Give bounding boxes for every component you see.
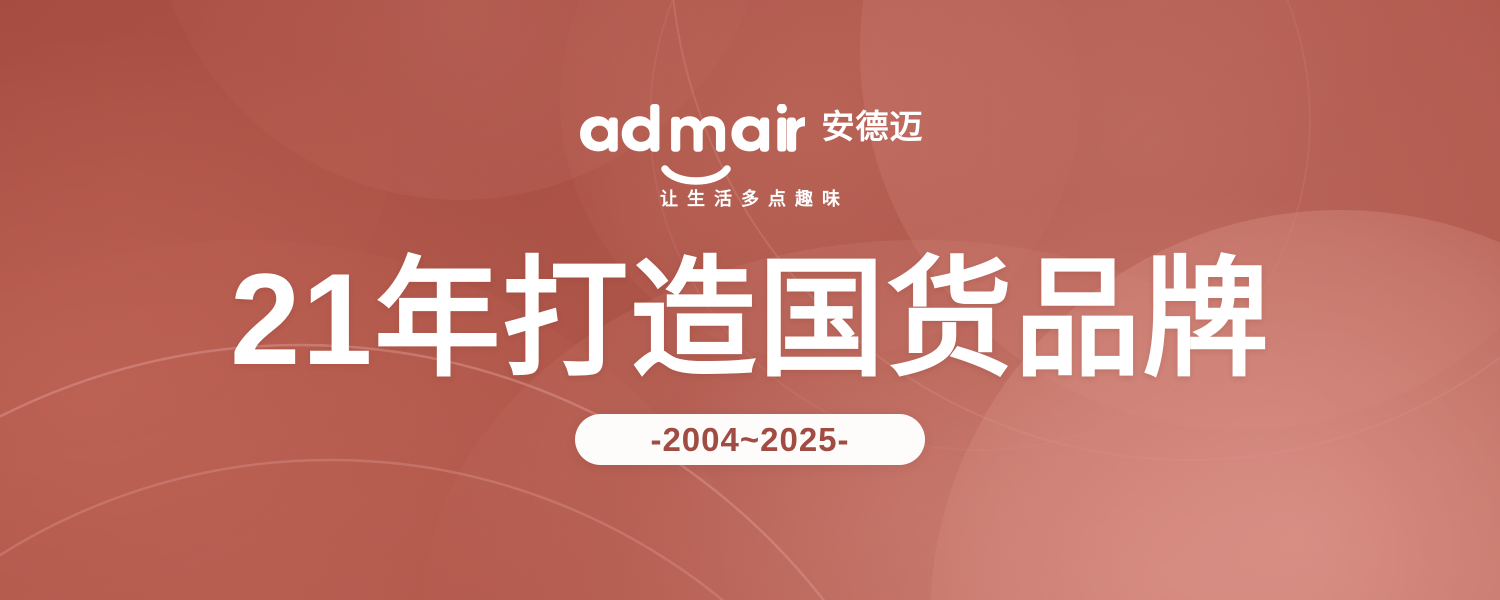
year-range-badge: -2004~2025- (575, 414, 925, 465)
brand-logo-lockup: 安德迈 (577, 104, 924, 162)
brand-name-chinese: 安德迈 (821, 110, 923, 143)
brand-anniversary-banner: 安德迈 让生活多点趣味 21年打造国货品牌 -2004~2025- (0, 0, 1500, 600)
headline-text: 21年打造国货品牌 (230, 254, 1270, 384)
banner-content: 安德迈 让生活多点趣味 21年打造国货品牌 -2004~2025- (0, 0, 1500, 600)
admair-wordmark-group (577, 104, 806, 162)
smile-curve-icon (660, 164, 732, 188)
brand-tagline: 让生活多点趣味 (651, 190, 849, 208)
admair-wordmark-icon (577, 104, 806, 162)
year-range-label: -2004~2025- (650, 423, 849, 456)
